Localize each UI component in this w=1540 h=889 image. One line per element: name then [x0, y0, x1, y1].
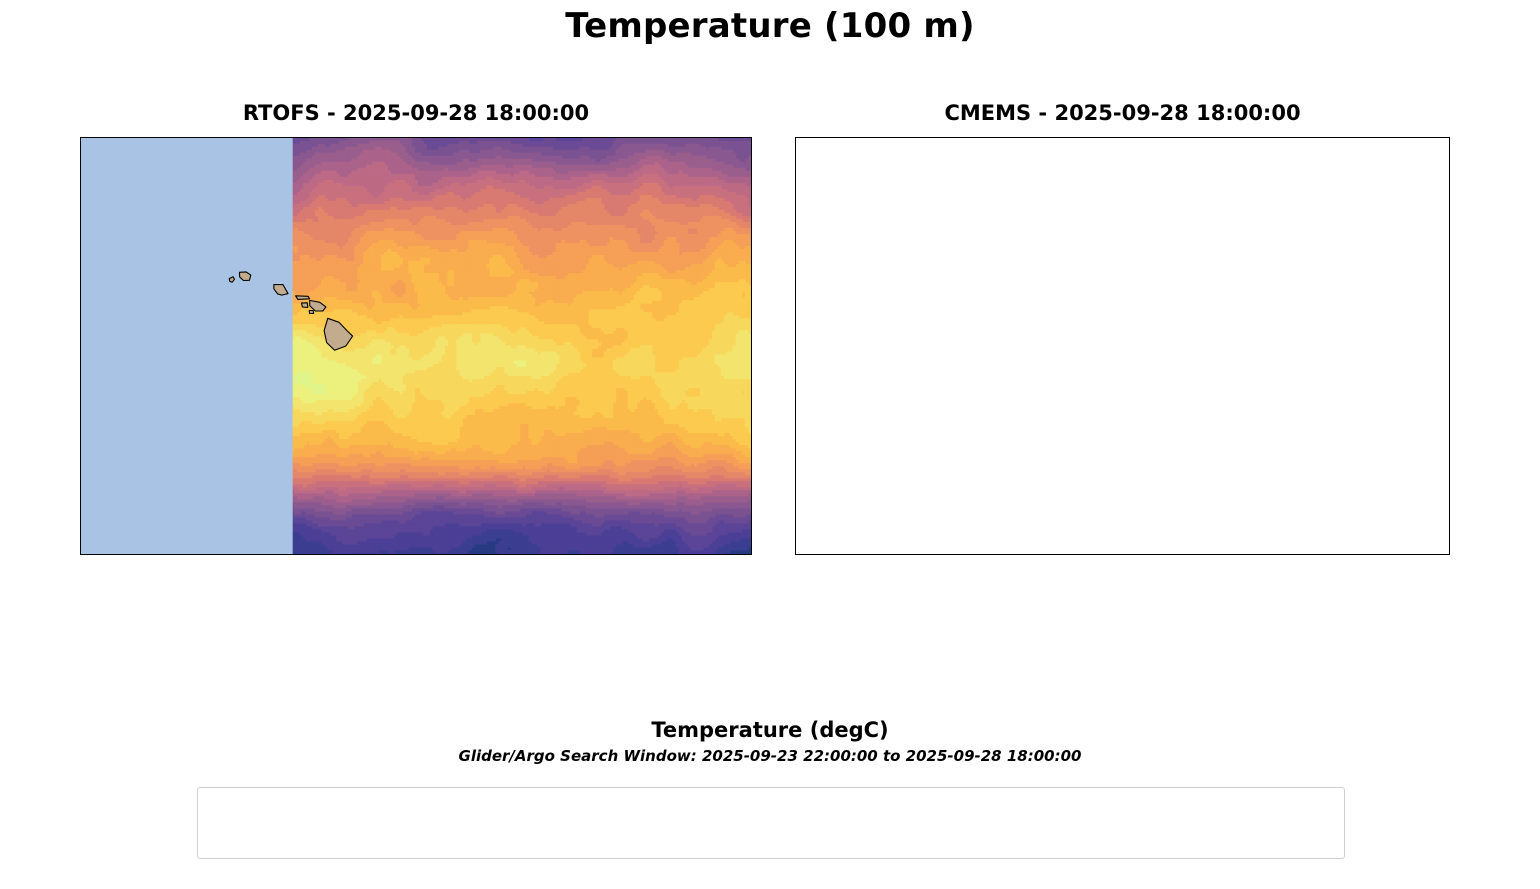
- cmems-panel-title: CMEMS - 2025-09-28 18:00:00: [795, 101, 1450, 125]
- rtofs-panel-title: RTOFS - 2025-09-28 18:00:00: [80, 101, 752, 125]
- figure-root: Temperature (100 m) RTOFS - 2025-09-28 1…: [0, 0, 1540, 889]
- rtofs-temperature-field: [81, 138, 751, 554]
- colorbar-axis-label: Temperature (degC): [0, 718, 1540, 742]
- rtofs-map-panel[interactable]: [80, 137, 752, 555]
- colorbar: [110, 658, 1435, 684]
- float-legend[interactable]: [197, 787, 1345, 859]
- cmems-temperature-field: [796, 138, 1449, 554]
- search-window-note: Glider/Argo Search Window: 2025-09-23 22…: [0, 747, 1540, 765]
- page-title: Temperature (100 m): [0, 6, 1540, 46]
- cmems-map-panel[interactable]: [795, 137, 1450, 555]
